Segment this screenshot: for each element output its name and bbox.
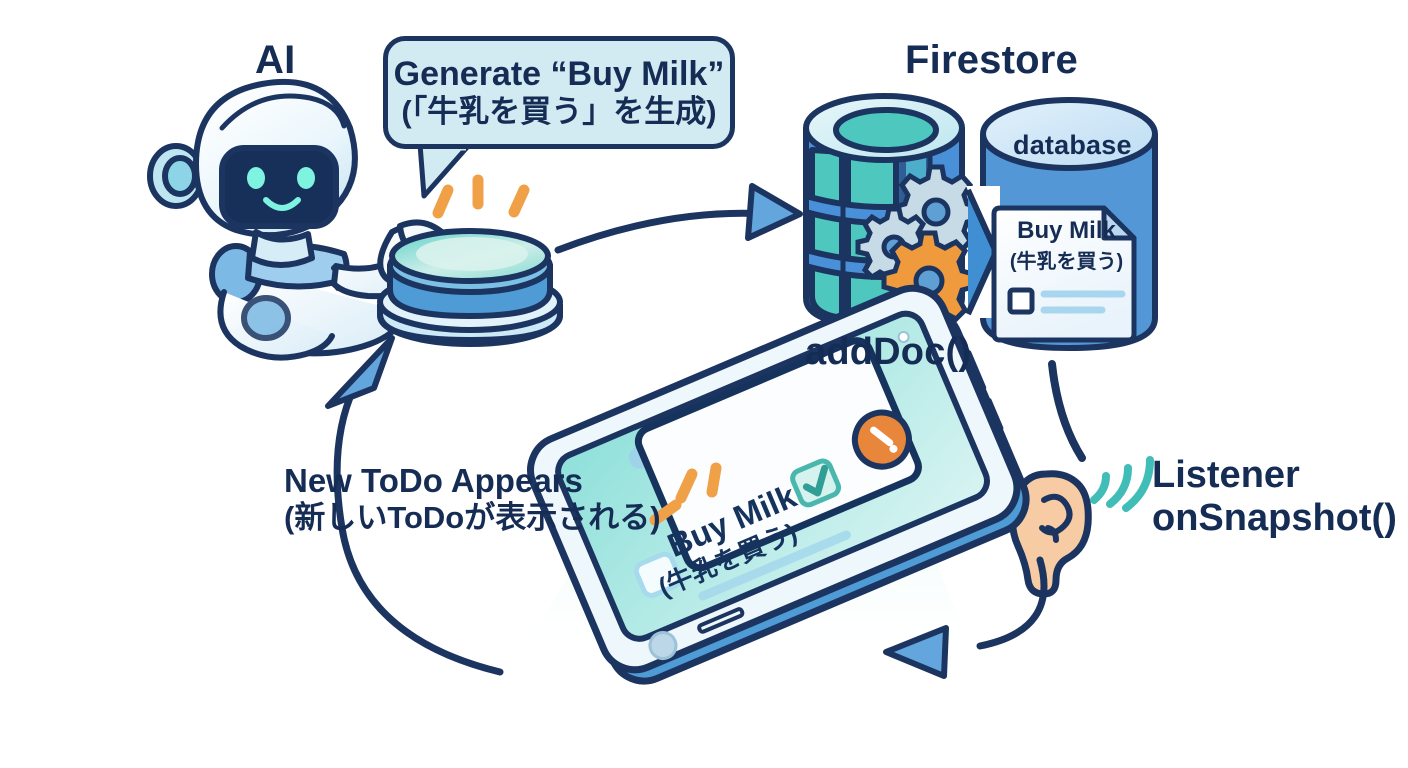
sparkle-icon <box>438 180 524 213</box>
diagram-canvas: AI Firestore addDoc() database Generate … <box>0 0 1408 768</box>
arrow-icon-to-firestore <box>558 186 800 250</box>
label-ai: AI <box>255 38 295 83</box>
document-title-en: Buy Milk <box>1000 217 1133 245</box>
listener-line1: Listener <box>1152 454 1397 497</box>
document-card-text: Buy Milk (牛乳を買う) <box>1000 203 1133 315</box>
new-todo-line-jp: (新しいToDoが表示される) <box>284 500 661 536</box>
listener-line2: onSnapshot() <box>1152 497 1397 540</box>
new-todo-label: New ToDo Appears (新しいToDoが表示される) <box>284 462 661 536</box>
label-adddoc: addDoc() <box>805 331 971 374</box>
sound-wave-icon <box>1094 460 1150 508</box>
listener-label: Listener onSnapshot() <box>1152 454 1397 539</box>
speech-bubble: Generate “Buy Milk” (「牛乳を買う」を生成) <box>383 36 735 149</box>
press-button-icon[interactable] <box>380 231 560 344</box>
speech-bubble-line-en: Generate “Buy Milk” <box>394 56 725 93</box>
connector-firestore-to-listener <box>1052 364 1082 458</box>
document-title-jp: (牛乳を買う) <box>1000 245 1133 274</box>
new-todo-line-en: New ToDo Appears <box>284 462 661 500</box>
speech-bubble-line-jp: (「牛乳を買う」を生成) <box>401 95 716 129</box>
label-firestore: Firestore <box>905 38 1078 83</box>
label-database: database <box>1013 130 1132 161</box>
